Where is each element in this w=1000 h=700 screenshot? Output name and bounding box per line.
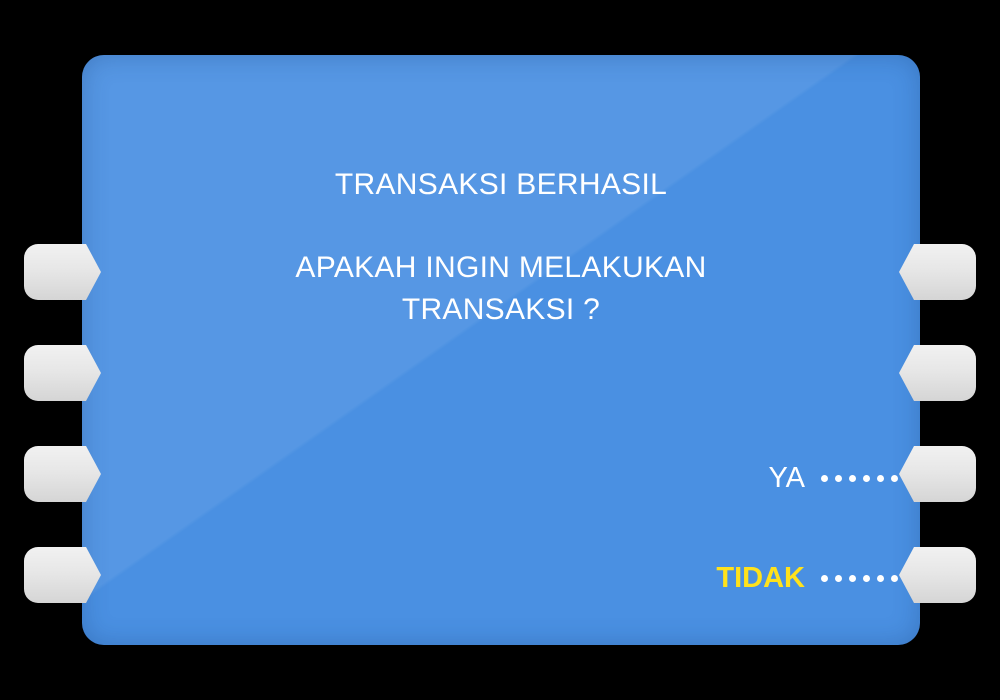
leader-dot — [891, 575, 898, 582]
right-key-2[interactable] — [899, 345, 976, 401]
left-key-3[interactable] — [24, 446, 101, 502]
option-ya-label: YA — [768, 461, 805, 495]
leader-dot — [835, 475, 842, 482]
prompt-question-line-1: APAKAH INGIN MELAKUKAN — [82, 247, 920, 289]
prompt-question: APAKAH INGIN MELAKUKAN TRANSAKSI ? — [82, 247, 920, 331]
right-key-4[interactable] — [899, 547, 976, 603]
left-key-1[interactable] — [24, 244, 101, 300]
leader-dot — [877, 575, 884, 582]
option-ya[interactable]: YA — [768, 461, 898, 495]
right-key-3[interactable] — [899, 446, 976, 502]
leader-dot — [891, 475, 898, 482]
leader-dot — [849, 575, 856, 582]
leader-dot — [821, 475, 828, 482]
left-key-4[interactable] — [24, 547, 101, 603]
option-ya-leader-dots — [821, 475, 898, 482]
screen-content: TRANSAKSI BERHASIL APAKAH INGIN MELAKUKA… — [82, 55, 920, 645]
option-tidak-label: TIDAK — [716, 561, 805, 595]
leader-dot — [863, 475, 870, 482]
left-key-2[interactable] — [24, 345, 101, 401]
status-message: TRANSAKSI BERHASIL — [82, 168, 920, 201]
leader-dot — [849, 475, 856, 482]
atm-terminal: TRANSAKSI BERHASIL APAKAH INGIN MELAKUKA… — [0, 0, 1000, 700]
leader-dot — [835, 575, 842, 582]
option-tidak[interactable]: TIDAK — [716, 561, 898, 595]
option-tidak-leader-dots — [821, 575, 898, 582]
leader-dot — [821, 575, 828, 582]
right-key-1[interactable] — [899, 244, 976, 300]
atm-screen: TRANSAKSI BERHASIL APAKAH INGIN MELAKUKA… — [82, 55, 920, 645]
leader-dot — [877, 475, 884, 482]
prompt-question-line-2: TRANSAKSI ? — [82, 289, 920, 331]
leader-dot — [863, 575, 870, 582]
